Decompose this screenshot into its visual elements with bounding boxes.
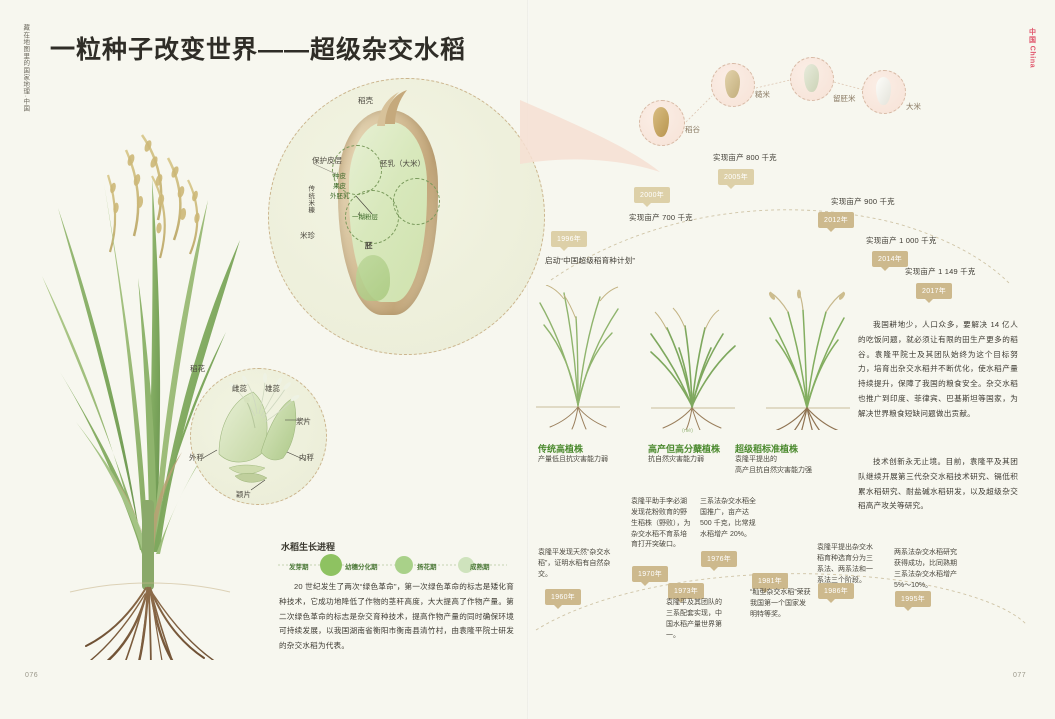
rice-flower-svg bbox=[195, 372, 325, 500]
lower-chip-1973: 1973年 bbox=[668, 583, 704, 599]
upper-timeline-arc bbox=[545, 175, 1015, 295]
upper-text-2014: 实现亩产 1 000 千克 bbox=[866, 235, 937, 246]
comparison-title-0: 传统高植株 bbox=[538, 442, 583, 455]
lower-chip-1995: 1995年 bbox=[895, 591, 931, 607]
lower-chip-1970: 1970年 bbox=[632, 566, 668, 582]
page-number-right: 077 bbox=[1013, 672, 1026, 679]
upper-chip-2005: 2005年 bbox=[718, 169, 754, 185]
page-title: 一粒种子改变世界——超级杂交水稻 bbox=[50, 30, 466, 66]
page-number-left: 076 bbox=[25, 672, 38, 679]
label-stamen: 雄蕊 bbox=[265, 383, 280, 394]
body-paragraph-2: 技术创新永无止境。目前，袁隆平及其团队继续开展第三代杂交水稻技术研究、镉低积累水… bbox=[858, 455, 1018, 514]
upper-text-2017: 实现亩产 1 149 千克 bbox=[905, 266, 976, 277]
husk-tip-icon bbox=[355, 88, 425, 128]
right-margin-en: China bbox=[1029, 46, 1036, 68]
label-scale: 颖片 bbox=[236, 489, 251, 500]
label-husk: 稻壳 bbox=[358, 95, 373, 106]
grain-chain-connectors bbox=[630, 50, 920, 150]
lower-text-1976: 三系法杂交水稻全国推广，亩产达 500 千克，比常规水稻增产 20%。 bbox=[700, 497, 762, 540]
growth-stage-1: 幼穗分化期 bbox=[345, 561, 378, 571]
comparison-desc-2: 袁隆平提出的 高产且抗自然灾害能力强 bbox=[735, 455, 847, 477]
comparison-title-2: 超级稻标准植株 bbox=[735, 442, 798, 455]
lower-chip-1976: 1976年 bbox=[701, 551, 737, 567]
lower-chip-1981: 1981年 bbox=[752, 573, 788, 589]
upper-text-2000: 实现亩产 700 千克 bbox=[629, 212, 693, 223]
lower-text-1995: 两系法杂交水稻研究获得成功，比同熟期三系法杂交水稻增产 5%～10%。 bbox=[894, 548, 962, 591]
label-pistil: 雌蕊 bbox=[232, 383, 247, 394]
aleurone-leader bbox=[352, 192, 392, 232]
rice-plant-illustration bbox=[30, 80, 270, 660]
growth-title: 水稻生长进程 bbox=[281, 540, 335, 553]
label-endosperm: 胚乳（大米） bbox=[380, 158, 425, 169]
left-margin-text: 藏在地图里的国家地理·中国 bbox=[20, 24, 30, 112]
lower-chip-1960: 1960年 bbox=[545, 589, 581, 605]
lower-text-1981: “籼型杂交水稻”荣获我国第一个国家发明特等奖。 bbox=[750, 588, 812, 621]
growth-stage-0: 发芽期 bbox=[289, 561, 309, 571]
lower-text-1973: 袁隆平及其团队的三系配套实现，中国水稻产量世界第一。 bbox=[666, 598, 728, 641]
label-glume: 浆片 bbox=[296, 416, 311, 427]
anatomy-leader-lines bbox=[300, 160, 360, 250]
right-margin-cn: 中国 bbox=[1029, 28, 1036, 43]
lower-text-1960: 袁隆平发现天然“杂交水稻”，证明水稻有自然杂交。 bbox=[538, 548, 616, 581]
growth-stage-3: 成熟期 bbox=[470, 561, 490, 571]
comparison-plant-1 bbox=[645, 300, 740, 430]
rice-plant-svg bbox=[30, 80, 270, 660]
label-embryo: 胚 bbox=[365, 240, 373, 251]
body-paragraph-1: 我国耕地少，人口众多，要解决 14 亿人的吃饭问题，就必须让有限的田生产更多的稻… bbox=[858, 318, 1018, 422]
lower-text-1986: 袁隆平提出杂交水稻育种选育分为三系法、两系法和一系法三个阶段。 bbox=[817, 543, 879, 586]
upper-chip-2014: 2014年 bbox=[872, 251, 908, 267]
comparison-pinyin-1: (niè) bbox=[682, 428, 693, 434]
comparison-desc-0: 产量低且抗灾害能力弱 bbox=[538, 455, 643, 466]
upper-text-1996: 启动“中国超级稻育种计划” bbox=[545, 255, 635, 266]
upper-chip-2012: 2012年 bbox=[818, 212, 854, 228]
upper-chip-2017: 2017年 bbox=[916, 283, 952, 299]
label-lemma: 外稃 bbox=[189, 452, 204, 463]
grain-embryo-shape bbox=[356, 255, 390, 301]
comparison-plant-2 bbox=[760, 288, 855, 430]
comparison-plant-0 bbox=[530, 285, 625, 430]
upper-chip-2000: 2000年 bbox=[634, 187, 670, 203]
upper-text-2012: 实现亩产 900 千克 bbox=[831, 196, 895, 207]
growth-stage-2: 扬花期 bbox=[417, 561, 437, 571]
upper-chip-1996: 1996年 bbox=[551, 231, 587, 247]
upper-text-2005: 实现亩产 800 千克 bbox=[713, 152, 777, 163]
green-revolution-paragraph: 20 世纪发生了两次“绿色革命”，第一次绿色革命的标志是矮化育种技术，它成功地降… bbox=[279, 580, 514, 654]
label-palea: 内稃 bbox=[299, 452, 314, 463]
lower-text-1970: 袁隆平助手李必湖发现花粉败育的野生稻株（野败），为杂交水稻不育系培育打开突破口。 bbox=[631, 497, 693, 551]
endosperm-detail-circle bbox=[393, 178, 440, 225]
infographic-page: 藏在地图里的国家地理·中国 中国 China 076 077 一粒种子改变世界—… bbox=[0, 0, 1055, 719]
right-margin-text: 中国 China bbox=[1026, 28, 1037, 68]
comparison-title-1: 高产但高分蘖植株 bbox=[648, 442, 720, 455]
